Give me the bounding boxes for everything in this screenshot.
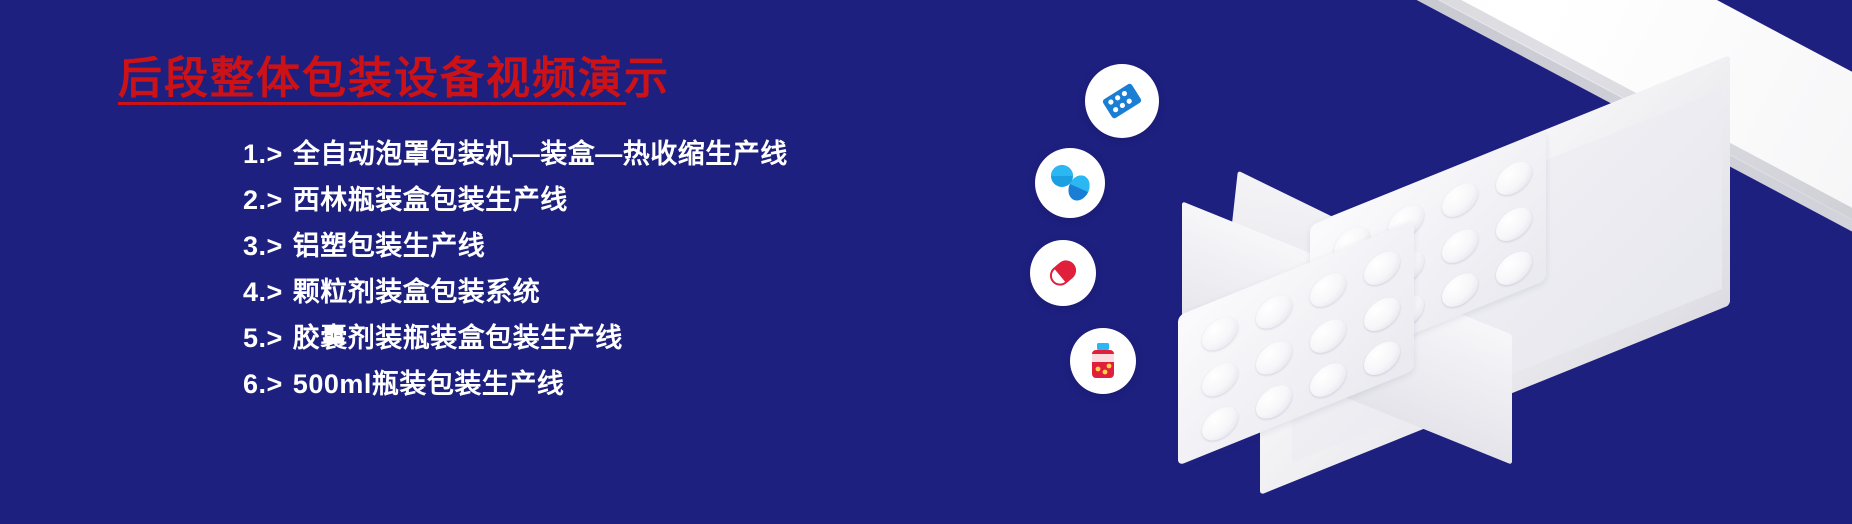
list-item-label: 铝塑包装生产线 (293, 224, 486, 263)
list-item-label: 全自动泡罩包装机—装盒—热收缩生产线 (293, 132, 788, 171)
list-item[interactable]: 5.> 胶囊剂装瓶装盒包装生产线 (243, 316, 788, 362)
list-item[interactable]: 1.> 全自动泡罩包装机—装盒—热收缩生产线 (243, 132, 788, 178)
capsule-icon (1030, 240, 1096, 306)
blister-pack-icon (1085, 64, 1159, 138)
video-list: 1.> 全自动泡罩包装机—装盒—热收缩生产线 2.> 西林瓶装盒包装生产线 3.… (243, 132, 788, 408)
list-item[interactable]: 6.> 500ml瓶装包装生产线 (243, 362, 788, 408)
title-divider (118, 102, 626, 105)
list-item-label: 胶囊剂装瓶装盒包装生产线 (293, 316, 623, 355)
promo-banner: 后段整体包装设备视频演示 1.> 全自动泡罩包装机—装盒—热收缩生产线 2.> … (0, 0, 1852, 524)
medicine-bottle-icon (1070, 328, 1136, 394)
list-item[interactable]: 3.> 铝塑包装生产线 (243, 224, 788, 270)
list-item-index: 5.> (243, 323, 283, 354)
page-title: 后段整体包装设备视频演示 (118, 42, 670, 106)
list-item[interactable]: 2.> 西林瓶装盒包装生产线 (243, 178, 788, 224)
list-item-index: 4.> (243, 277, 283, 308)
list-item-label: 西林瓶装盒包装生产线 (293, 178, 568, 217)
tablets-icon (1035, 148, 1105, 218)
list-item-label: 500ml瓶装包装生产线 (293, 362, 565, 401)
list-item-index: 2.> (243, 185, 283, 216)
list-item-index: 3.> (243, 231, 283, 262)
list-item-index: 1.> (243, 139, 283, 170)
list-item-label: 颗粒剂装盒包装系统 (293, 270, 541, 309)
list-item[interactable]: 4.> 颗粒剂装盒包装系统 (243, 270, 788, 316)
list-item-index: 6.> (243, 369, 283, 400)
